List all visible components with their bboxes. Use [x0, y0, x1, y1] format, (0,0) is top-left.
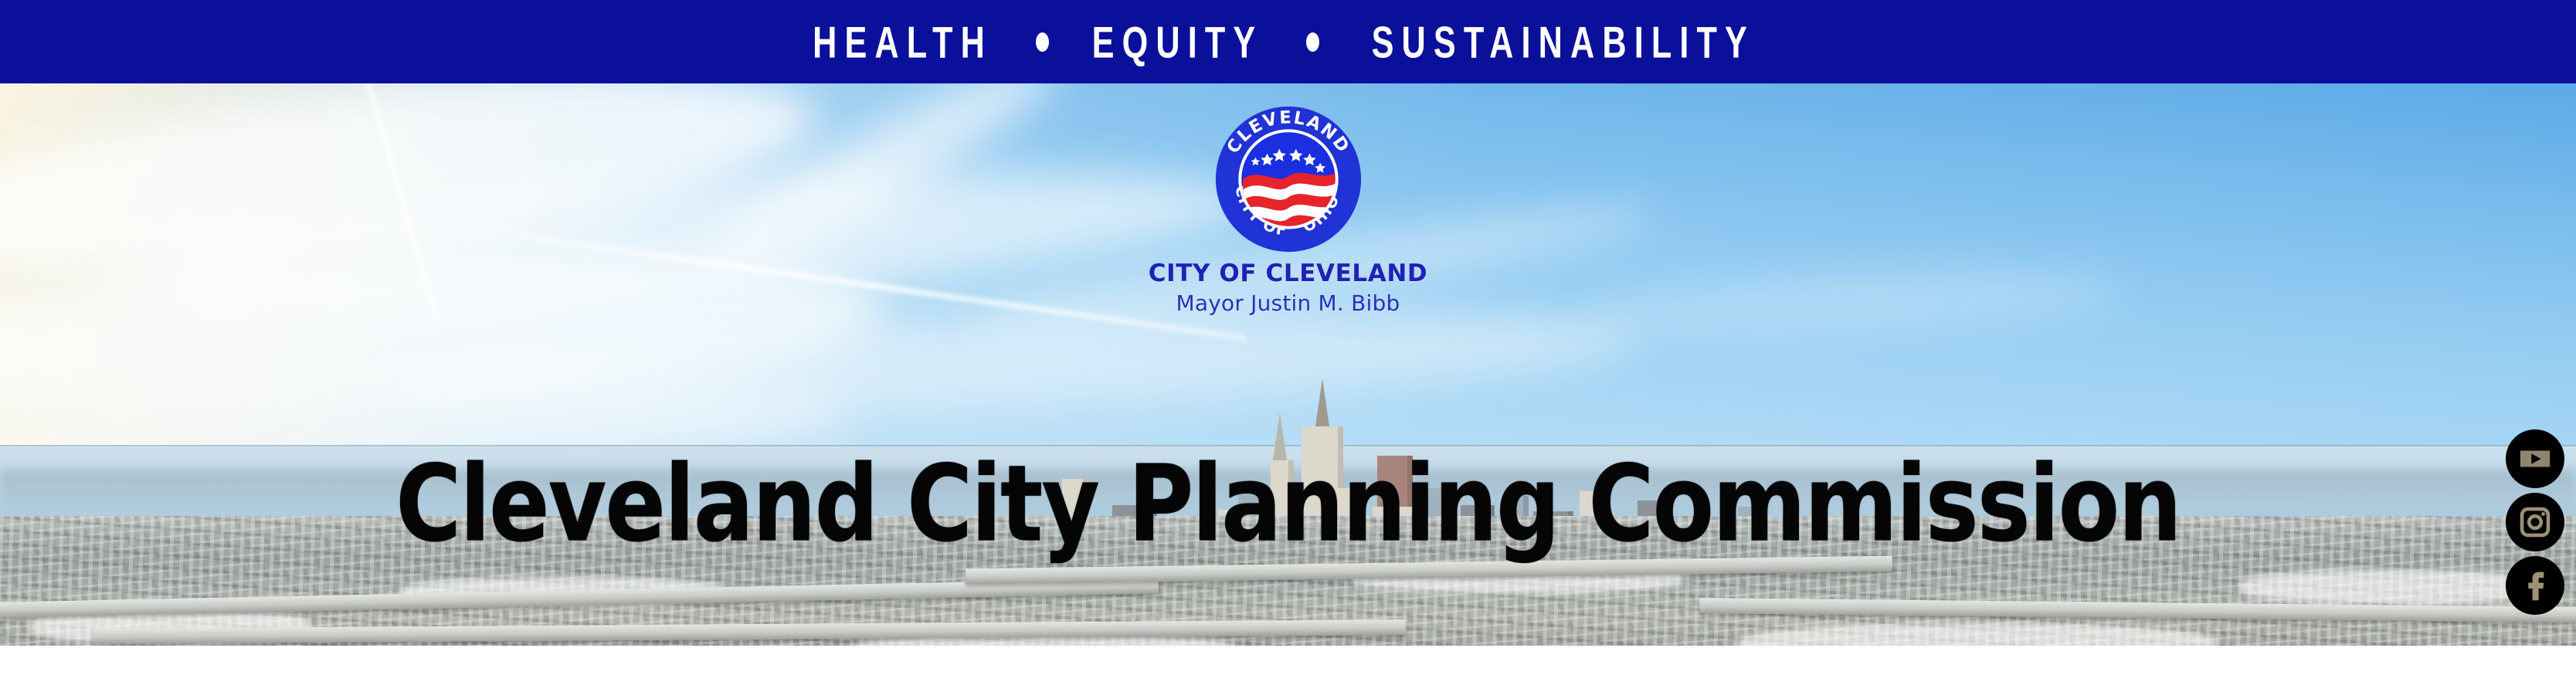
social-link-facebook[interactable]	[2506, 556, 2564, 615]
tagline-inner: HEALTH EQUITY SUSTAINABILITY	[805, 24, 1772, 60]
social-link-youtube[interactable]	[2506, 429, 2564, 488]
tagline-bar: HEALTH EQUITY SUSTAINABILITY	[0, 0, 2576, 83]
facebook-icon	[2519, 569, 2551, 602]
instagram-icon	[2518, 505, 2552, 539]
page-root: HEALTH EQUITY SUSTAINABILITY	[0, 0, 2576, 682]
tagline-separator-dot-2	[1306, 32, 1319, 52]
tagline-separator-dot-1	[1036, 32, 1049, 52]
tagline-word-health: HEALTH	[813, 19, 993, 63]
social-link-instagram[interactable]	[2506, 493, 2564, 551]
youtube-icon	[2517, 441, 2553, 477]
tagline-word-sustainability: SUSTAINABILITY	[1371, 19, 1754, 63]
social-links	[2506, 429, 2564, 615]
tagline-word-equity: EQUITY	[1091, 19, 1263, 63]
page-title: Cleveland City Planning Commission	[0, 452, 2576, 558]
